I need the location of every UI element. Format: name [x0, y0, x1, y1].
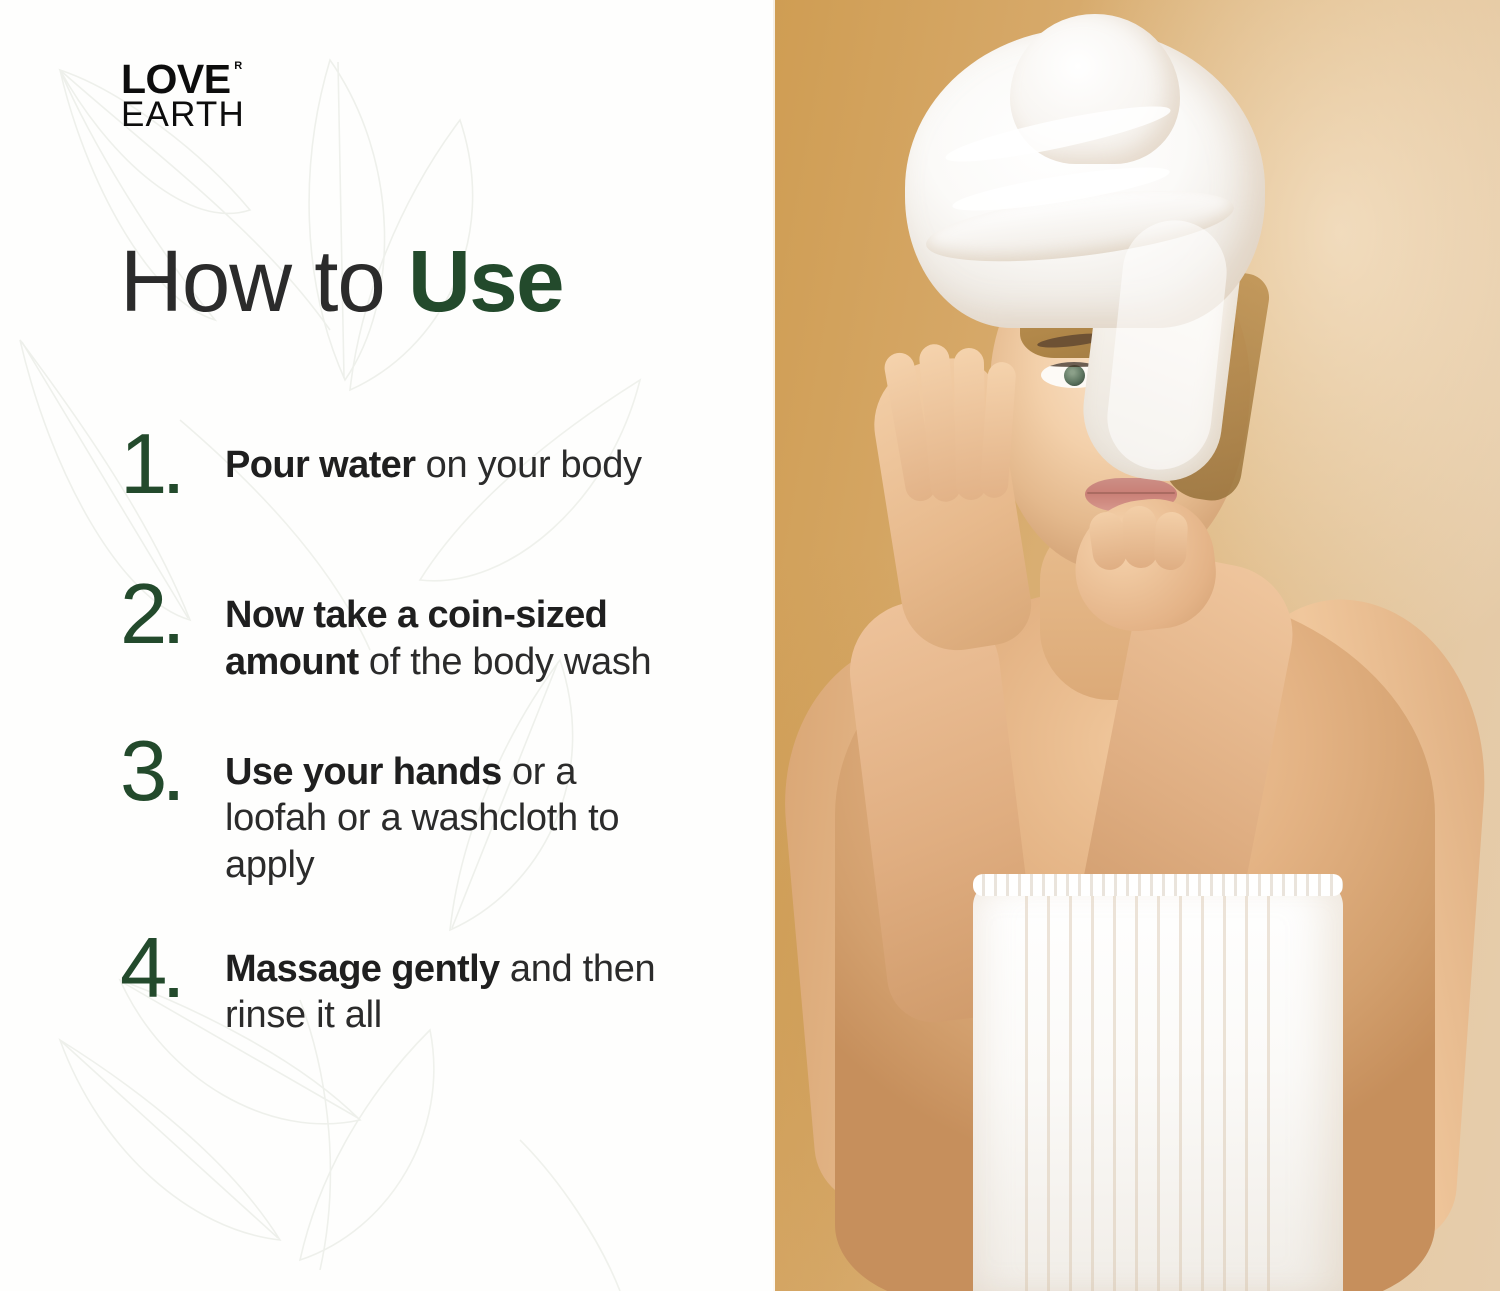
step-number-dot: . [165, 589, 180, 656]
step-number-value: 2 [120, 567, 165, 662]
step-number: 1. [120, 426, 225, 504]
list-item: 1. Pour water on your body [120, 440, 680, 518]
towel-rib [1135, 896, 1138, 1291]
towel-rib [1091, 896, 1094, 1291]
step-text: Massage gently and then rinse it all [225, 944, 680, 1039]
step-text: Use your hands or a loofah or a washclot… [225, 747, 680, 888]
towel-rib [1245, 896, 1248, 1291]
step-number-dot: . [165, 746, 180, 813]
step-number: 4. [120, 930, 225, 1008]
step-number-value: 3 [120, 724, 165, 819]
step-text: Pour water on your body [225, 440, 680, 488]
step-text-rest: of the body wash [359, 641, 652, 683]
towel-rib [1157, 896, 1160, 1291]
page-title-light: How to [120, 233, 408, 330]
towel-rib [1025, 896, 1028, 1291]
page-title-bold: Use [408, 233, 563, 330]
step-number: 2. [120, 576, 225, 654]
logo-earth-label: EARTH [121, 97, 351, 132]
step-text-bold: Use your hands [225, 751, 502, 793]
steps-list: 1. Pour water on your body 2. Now take a… [120, 440, 680, 1039]
step-number-value: 1 [120, 417, 165, 512]
step-text: Now take a coin-sized amount of the body… [225, 590, 680, 685]
model-portrait-image [775, 0, 1500, 1291]
towel-rib [1223, 896, 1226, 1291]
towel-rib [1113, 896, 1116, 1291]
infographic-canvas: LOVE R EARTH How to Use 1. Pour water on… [0, 0, 1500, 1291]
step-text-bold: Massage gently [225, 948, 500, 990]
towel-rib [1179, 896, 1182, 1291]
brand-logo: LOVE R EARTH [121, 60, 351, 132]
product-photo-panel [775, 0, 1500, 1291]
left-content-panel: LOVE R EARTH How to Use 1. Pour water on… [0, 0, 775, 1291]
towel-rib [1047, 896, 1050, 1291]
step-number: 3. [120, 733, 225, 811]
registered-trademark-icon: R [234, 61, 241, 72]
towel-rib [1201, 896, 1204, 1291]
step-number-dot: . [165, 943, 180, 1010]
towel-rib [1267, 896, 1270, 1291]
knuckle [1121, 505, 1158, 569]
lip-line [1087, 492, 1175, 494]
step-text-bold: Pour water [225, 444, 415, 486]
logo-love-label: LOVE [121, 56, 231, 102]
step-number-value: 4 [120, 921, 165, 1016]
step-number-dot: . [165, 439, 180, 506]
list-item: 2. Now take a coin-sized amount of the b… [120, 590, 680, 685]
body-towel-edge [973, 874, 1343, 896]
list-item: 3. Use your hands or a loofah or a washc… [120, 747, 680, 888]
list-item: 4. Massage gently and then rinse it all [120, 944, 680, 1039]
knuckle [1154, 511, 1189, 571]
logo-love-text: LOVE R [121, 60, 231, 99]
towel-rib [1069, 896, 1072, 1291]
step-text-rest: on your body [415, 444, 641, 486]
left-iris [1064, 365, 1085, 386]
page-title: How to Use [120, 238, 563, 325]
